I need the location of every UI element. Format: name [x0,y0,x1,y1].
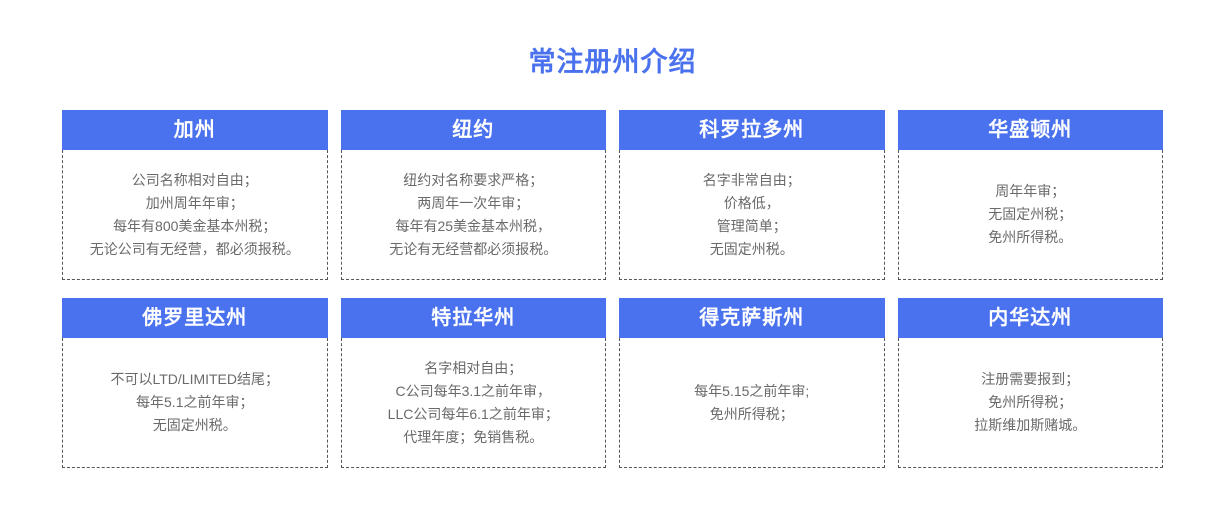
card-title-colorado: 科罗拉多州 [619,110,885,150]
card-title-delaware: 特拉华州 [341,298,607,338]
card-line: 不可以LTD/LIMITED结尾； [69,368,321,391]
state-card-california[interactable]: 加州 公司名称相对自由； 加州周年年审； 每年有800美金基本州税； 无论公司有… [62,110,328,280]
state-card-washington[interactable]: 华盛顿州 周年年审； 无固定州税； 免州所得税。 [898,110,1164,280]
card-line: 无固定州税。 [69,414,321,437]
card-body-nevada: 注册需要报到； 免州所得税； 拉斯维加斯赌城。 [898,338,1164,468]
card-body-text-california: 公司名称相对自由； 加州周年年审； 每年有800美金基本州税； 无论公司有无经营… [69,169,321,261]
card-body-new-york: 纽约对名称要求严格； 两周年一次年审； 每年有25美金基本州税， 无论有无经营都… [341,150,607,280]
state-card-new-york[interactable]: 纽约 纽约对名称要求严格； 两周年一次年审； 每年有25美金基本州税， 无论有无… [341,110,607,280]
card-line: LLC公司每年6.1之前年审； [348,403,600,426]
card-line: 免州所得税； [905,391,1157,414]
card-line: 拉斯维加斯赌城。 [905,414,1157,437]
card-line: 无固定州税。 [626,238,878,261]
card-title-florida: 佛罗里达州 [62,298,328,338]
card-body-text-colorado: 名字非常自由； 价格低， 管理简单； 无固定州税。 [626,169,878,261]
card-line: 周年年审； [905,180,1157,203]
card-body-text-new-york: 纽约对名称要求严格； 两周年一次年审； 每年有25美金基本州税， 无论有无经营都… [348,169,600,261]
card-body-delaware: 名字相对自由； C公司每年3.1之前年审， LLC公司每年6.1之前年审； 代理… [341,338,607,468]
card-title-california: 加州 [62,110,328,150]
card-title-new-york: 纽约 [341,110,607,150]
state-card-grid: 加州 公司名称相对自由； 加州周年年审； 每年有800美金基本州税； 无论公司有… [62,110,1163,468]
card-line: 价格低， [626,192,878,215]
card-body-text-texas: 每年5.15之前年审; 免州所得税； [626,380,878,426]
state-card-colorado[interactable]: 科罗拉多州 名字非常自由； 价格低， 管理简单； 无固定州税。 [619,110,885,280]
card-line: 公司名称相对自由； [69,169,321,192]
card-line: 每年5.1之前年审； [69,391,321,414]
card-line: 纽约对名称要求严格； [348,169,600,192]
card-title-texas: 得克萨斯州 [619,298,885,338]
state-card-delaware[interactable]: 特拉华州 名字相对自由； C公司每年3.1之前年审， LLC公司每年6.1之前年… [341,298,607,468]
card-body-text-washington: 周年年审； 无固定州税； 免州所得税。 [905,180,1157,249]
card-line: 每年5.15之前年审; [626,380,878,403]
card-body-florida: 不可以LTD/LIMITED结尾； 每年5.1之前年审； 无固定州税。 [62,338,328,468]
page-title: 常注册州介绍 [0,44,1225,80]
card-line: 名字非常自由； [626,169,878,192]
card-row-1: 加州 公司名称相对自由； 加州周年年审； 每年有800美金基本州税； 无论公司有… [62,110,1163,280]
card-line: 管理简单； [626,215,878,238]
card-body-washington: 周年年审； 无固定州税； 免州所得税。 [898,150,1164,280]
card-body-texas: 每年5.15之前年审; 免州所得税； [619,338,885,468]
card-line: 免州所得税； [626,403,878,426]
card-line: 注册需要报到； [905,368,1157,391]
card-body-colorado: 名字非常自由； 价格低， 管理简单； 无固定州税。 [619,150,885,280]
state-card-texas[interactable]: 得克萨斯州 每年5.15之前年审; 免州所得税； [619,298,885,468]
card-body-california: 公司名称相对自由； 加州周年年审； 每年有800美金基本州税； 无论公司有无经营… [62,150,328,280]
state-card-nevada[interactable]: 内华达州 注册需要报到； 免州所得税； 拉斯维加斯赌城。 [898,298,1164,468]
card-body-text-nevada: 注册需要报到； 免州所得税； 拉斯维加斯赌城。 [905,368,1157,437]
card-line: 加州周年年审； [69,192,321,215]
card-line: 免州所得税。 [905,226,1157,249]
card-line: 每年有800美金基本州税； [69,215,321,238]
card-row-2: 佛罗里达州 不可以LTD/LIMITED结尾； 每年5.1之前年审； 无固定州税… [62,298,1163,468]
card-line: 名字相对自由； [348,357,600,380]
card-line: 无论公司有无经营，都必须报税。 [69,238,321,261]
card-body-text-florida: 不可以LTD/LIMITED结尾； 每年5.1之前年审； 无固定州税。 [69,368,321,437]
card-body-text-delaware: 名字相对自由； C公司每年3.1之前年审， LLC公司每年6.1之前年审； 代理… [348,357,600,449]
card-line: 代理年度；免销售税。 [348,426,600,449]
card-line: C公司每年3.1之前年审， [348,380,600,403]
card-line: 每年有25美金基本州税， [348,215,600,238]
card-title-nevada: 内华达州 [898,298,1164,338]
state-card-florida[interactable]: 佛罗里达州 不可以LTD/LIMITED结尾； 每年5.1之前年审； 无固定州税… [62,298,328,468]
page-root: 常注册州介绍 加州 公司名称相对自由； 加州周年年审； 每年有800美金基本州税… [0,0,1225,510]
card-line: 无固定州税； [905,203,1157,226]
card-line: 无论有无经营都必须报税。 [348,238,600,261]
card-line: 两周年一次年审； [348,192,600,215]
card-title-washington: 华盛顿州 [898,110,1164,150]
